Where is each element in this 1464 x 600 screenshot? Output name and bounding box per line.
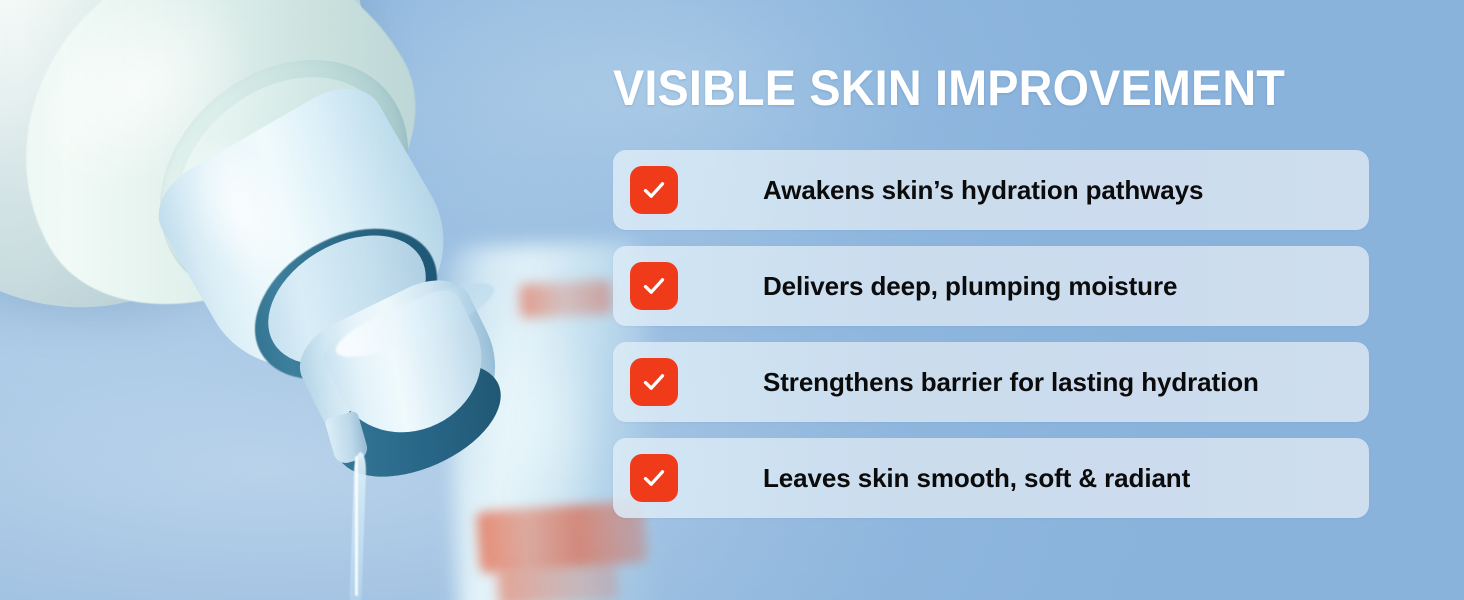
checklist-item: Leaves skin smooth, soft & radiant (613, 438, 1369, 518)
checklist-item: Awakens skin’s hydration pathways (613, 150, 1369, 230)
checklist-item-label: Delivers deep, plumping moisture (763, 246, 1177, 326)
check-icon (630, 454, 678, 502)
check-icon (630, 262, 678, 310)
checklist-item: Strengthens barrier for lasting hydratio… (613, 342, 1369, 422)
checklist-item: Delivers deep, plumping moisture (613, 246, 1369, 326)
promo-banner: VISIBLE SKIN IMPROVEMENT Awakens skin’s … (0, 0, 1464, 600)
check-icon (630, 166, 678, 214)
banner-content: VISIBLE SKIN IMPROVEMENT Awakens skin’s … (613, 0, 1369, 600)
benefit-checklist: Awakens skin’s hydration pathways Delive… (613, 150, 1369, 518)
check-icon (630, 358, 678, 406)
checklist-item-label: Leaves skin smooth, soft & radiant (763, 438, 1190, 518)
headline: VISIBLE SKIN IMPROVEMENT (613, 60, 1320, 116)
checklist-item-label: Awakens skin’s hydration pathways (763, 150, 1203, 230)
checklist-item-label: Strengthens barrier for lasting hydratio… (763, 342, 1259, 422)
